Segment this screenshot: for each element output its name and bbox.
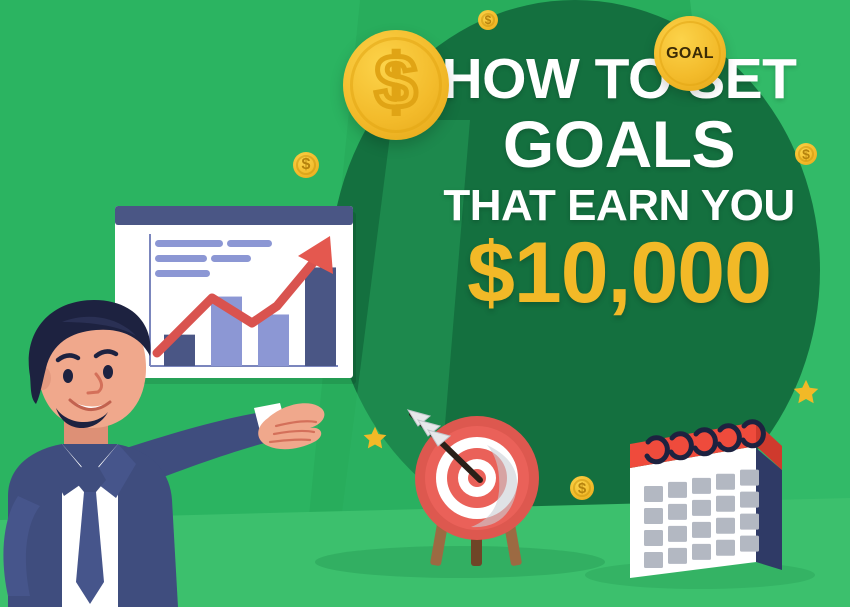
- calendar-cell: [740, 514, 759, 530]
- goal-coin-label: GOAL: [654, 16, 726, 91]
- calendar-cell: [668, 526, 687, 542]
- calendar-cell: [668, 504, 687, 520]
- mini-coin-right: $: [795, 143, 817, 165]
- chart-text-line-1: [155, 240, 223, 247]
- calendar-cell: [668, 482, 687, 498]
- desk-calendar: [604, 412, 800, 588]
- star-left-of-target: [362, 425, 388, 451]
- calendar-cell: [644, 508, 663, 524]
- mini-coin-top-small: $: [478, 10, 498, 30]
- person-eye-right: [103, 365, 113, 379]
- person-eye-left: [63, 369, 73, 383]
- chart-text-line-2: [155, 255, 207, 262]
- dollar-coin-icon: $: [343, 30, 449, 140]
- calendar-cell: [740, 470, 759, 486]
- calendar-cell: [716, 474, 735, 490]
- businessman-presenter: [0, 300, 330, 607]
- chart-text-line-3: [155, 270, 210, 277]
- calendar-cell: [716, 496, 735, 512]
- calendar-cell: [692, 500, 711, 516]
- svg-text:$: $: [375, 40, 417, 125]
- calendar-cell: [692, 478, 711, 494]
- calendar-cell: [740, 536, 759, 552]
- whiteboard-top-bar: [115, 206, 353, 225]
- dartboard-target: [392, 400, 562, 575]
- goal-coin-badge: GOAL: [654, 16, 726, 91]
- mini-coin-center: $: [570, 476, 594, 500]
- calendar-cell: [692, 522, 711, 538]
- calendar-cell: [644, 552, 663, 568]
- calendar-cell: [716, 518, 735, 534]
- calendar-cell: [668, 548, 687, 564]
- mini-coin-top-left: $: [293, 152, 319, 178]
- star-right-lower: [792, 378, 820, 406]
- poster-canvas: HOW TO SET GOALS THAT EARN YOU $10,000 $…: [0, 0, 850, 607]
- calendar-cell: [644, 486, 663, 502]
- calendar-cell: [716, 540, 735, 556]
- calendar-cell: [692, 544, 711, 560]
- calendar-cell: [740, 492, 759, 508]
- calendar-cell: [644, 530, 663, 546]
